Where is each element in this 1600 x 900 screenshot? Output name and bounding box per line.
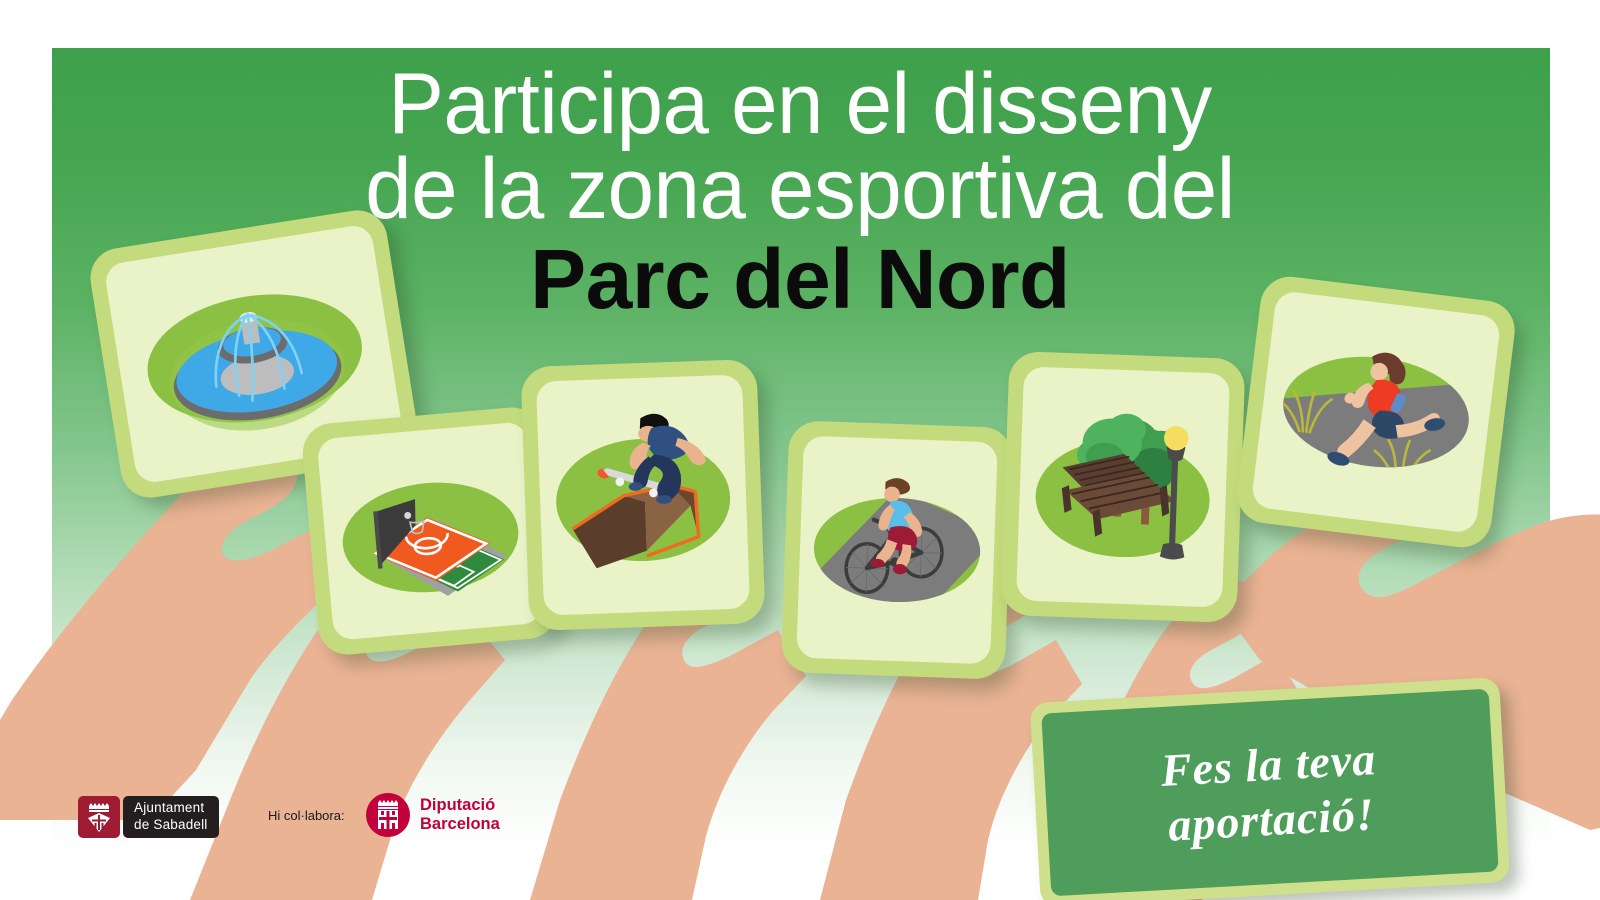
card-face [317,421,544,641]
card-face [1016,366,1230,607]
poster-canvas: Participa en el disseny de la zona espor… [0,0,1600,900]
card-sports-court[interactable] [300,405,559,657]
ajuntament-line-2: de Sabadell [134,817,208,834]
collaborator-label: Hi col·labora: [268,808,345,823]
diputacio-line-1: Diputació [420,796,500,815]
ajuntament-name-box: Ajuntament de Sabadell [123,796,219,838]
skateboarder-icon [536,374,750,615]
sports-court-icon [317,421,544,641]
card-running-path[interactable] [1234,273,1518,550]
diputacio-barcelona-logo[interactable]: Diputació Barcelona [366,793,500,837]
runner-icon [1251,290,1502,534]
park-bench-icon [1016,366,1230,607]
sabadell-coat-of-arms-icon [78,796,120,838]
card-face [796,436,998,665]
cta-badge[interactable]: Fes la teva aportació! [1030,677,1511,900]
diputacio-name: Diputació Barcelona [420,796,500,835]
card-bike-lane[interactable] [781,420,1014,680]
diputacio-coat-of-arms-icon [366,793,410,837]
card-face [1251,290,1502,534]
ajuntament-line-1: Ajuntament [134,800,208,817]
ajuntament-de-sabadell-logo[interactable]: Ajuntament de Sabadell [78,796,219,838]
card-face [536,374,750,615]
card-skatepark[interactable] [520,359,765,631]
cyclist-icon [796,436,998,665]
footer-logos: Ajuntament de Sabadell Hi col·labora: [0,790,1600,860]
diputacio-line-2: Barcelona [420,815,500,834]
card-bench-trees[interactable] [1000,351,1245,623]
